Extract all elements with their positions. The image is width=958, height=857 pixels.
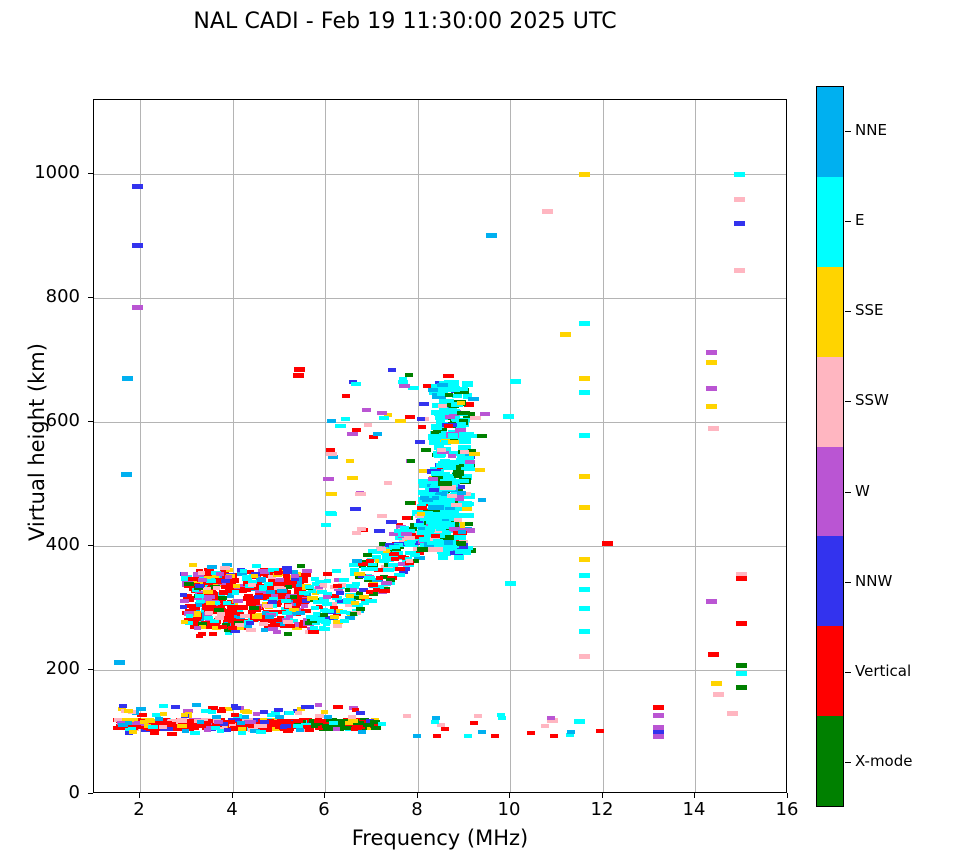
data-point	[208, 710, 216, 714]
data-point	[159, 725, 167, 729]
data-point	[418, 425, 426, 429]
data-point	[736, 685, 747, 690]
y-tick-mark	[88, 545, 93, 546]
data-point	[204, 616, 213, 620]
data-point	[389, 545, 400, 549]
colorbar-label-x-mode: X-mode	[855, 752, 912, 770]
data-point	[579, 433, 590, 438]
data-point	[321, 523, 331, 527]
colorbar[interactable]	[816, 86, 844, 807]
data-point	[237, 605, 248, 610]
data-point	[363, 723, 374, 727]
data-point	[336, 591, 344, 595]
data-point	[713, 692, 724, 697]
data-point	[244, 720, 256, 724]
data-point	[417, 512, 425, 516]
data-point	[221, 579, 230, 583]
data-point	[282, 611, 292, 615]
data-point	[420, 496, 429, 500]
data-point	[388, 563, 398, 567]
x-axis-label: Frequency (MHz)	[93, 826, 787, 850]
data-point	[192, 703, 201, 707]
data-point	[373, 432, 382, 436]
data-point	[454, 474, 462, 478]
data-point	[198, 578, 207, 582]
data-point	[181, 572, 188, 576]
data-point	[441, 727, 449, 731]
data-point	[402, 516, 411, 520]
data-point	[218, 596, 227, 600]
data-point	[167, 732, 177, 736]
data-point	[736, 671, 747, 676]
data-point	[301, 604, 308, 608]
data-point	[326, 512, 337, 516]
data-point	[391, 557, 399, 561]
x-tick-label: 16	[757, 799, 817, 820]
data-point	[383, 568, 394, 572]
data-point	[190, 731, 200, 735]
data-point	[291, 574, 299, 578]
colorbar-tick-mark	[845, 131, 851, 132]
data-point	[333, 727, 340, 731]
data-point	[155, 717, 163, 721]
data-point	[602, 541, 613, 546]
colorbar-label-w: W	[855, 482, 870, 500]
data-point	[277, 589, 287, 593]
data-point	[287, 624, 295, 628]
data-point	[505, 581, 516, 586]
x-tick-mark	[602, 793, 603, 798]
data-point	[293, 724, 303, 728]
data-point	[322, 602, 332, 606]
data-point	[579, 376, 590, 381]
data-point	[285, 604, 292, 608]
data-point	[445, 393, 453, 397]
data-point	[129, 730, 137, 734]
data-point	[706, 350, 717, 355]
data-point	[465, 460, 475, 464]
data-point	[381, 589, 389, 593]
data-point	[216, 572, 224, 576]
y-tick-label: 1000	[20, 162, 80, 183]
data-point	[527, 731, 535, 735]
data-point	[233, 599, 243, 603]
data-point	[340, 619, 349, 623]
data-point	[653, 734, 664, 739]
data-point	[223, 601, 231, 605]
data-point	[407, 459, 415, 463]
data-point	[252, 564, 261, 568]
data-point	[400, 526, 409, 530]
data-point	[350, 507, 361, 511]
data-point	[125, 721, 132, 725]
data-point	[466, 434, 477, 438]
data-point	[414, 523, 424, 527]
data-point	[399, 384, 410, 388]
data-point	[388, 368, 396, 372]
data-point	[320, 613, 328, 617]
data-point	[294, 719, 303, 723]
data-point	[736, 576, 747, 581]
data-point	[356, 711, 365, 715]
data-point	[180, 599, 189, 603]
data-point	[445, 415, 455, 419]
ionogram-figure: NAL CADI - Feb 19 11:30:00 2025 UTC Freq…	[0, 0, 958, 857]
data-point	[374, 529, 385, 533]
colorbar-segment-nne[interactable]	[817, 87, 843, 177]
data-point	[281, 724, 291, 728]
data-point	[320, 583, 327, 587]
data-point	[311, 606, 319, 610]
data-point	[464, 734, 472, 738]
data-point	[253, 600, 260, 605]
x-tick-label: 4	[202, 799, 262, 820]
data-point	[290, 595, 297, 599]
data-point	[232, 590, 239, 595]
colorbar-label-ssw: SSW	[855, 391, 889, 409]
data-point	[283, 574, 290, 580]
data-point	[228, 626, 237, 630]
data-point	[246, 628, 256, 632]
data-point	[274, 708, 283, 712]
data-point	[458, 530, 466, 534]
data-point	[727, 711, 738, 716]
data-point	[294, 367, 305, 372]
data-point	[296, 611, 305, 615]
data-point	[297, 564, 305, 568]
data-point	[379, 416, 389, 420]
data-point	[194, 626, 201, 630]
data-point	[352, 559, 362, 563]
data-point	[596, 729, 604, 733]
data-point	[254, 595, 263, 599]
data-point	[136, 707, 146, 711]
data-point	[124, 709, 133, 713]
data-point	[464, 464, 474, 468]
data-point	[372, 555, 381, 559]
data-point	[150, 731, 159, 735]
data-point	[437, 383, 448, 387]
data-point	[448, 433, 458, 438]
data-point	[295, 711, 302, 715]
data-point	[185, 604, 196, 608]
data-point	[224, 728, 231, 732]
colorbar-segment-nnw[interactable]	[817, 536, 843, 626]
data-point	[708, 652, 719, 657]
data-point	[491, 734, 499, 738]
plot-area	[93, 99, 787, 793]
data-point	[395, 419, 406, 423]
data-point	[443, 374, 454, 378]
x-tick-mark	[509, 793, 510, 798]
data-point	[352, 531, 361, 535]
data-point	[440, 510, 457, 515]
data-point	[249, 606, 259, 610]
data-point	[438, 481, 452, 486]
data-point	[428, 477, 438, 481]
data-point	[312, 582, 319, 586]
colorbar-tick-mark	[845, 401, 851, 402]
data-point	[350, 612, 357, 616]
data-point	[560, 332, 571, 337]
data-point	[366, 590, 373, 594]
data-point	[706, 404, 717, 409]
x-tick-label: 2	[109, 799, 169, 820]
data-point	[458, 438, 471, 444]
data-point	[415, 440, 425, 444]
data-point	[197, 720, 204, 724]
data-point	[579, 505, 590, 510]
data-point	[474, 714, 482, 718]
data-point	[470, 721, 478, 725]
scatter-points	[94, 100, 786, 792]
data-point	[293, 599, 300, 603]
data-point	[323, 572, 332, 576]
data-point	[307, 596, 318, 600]
data-point	[218, 625, 227, 629]
data-point	[339, 578, 349, 582]
data-point	[186, 614, 193, 618]
data-point	[428, 505, 444, 510]
data-point	[235, 623, 244, 627]
colorbar-segment-x-mode[interactable]	[817, 716, 843, 806]
data-point	[281, 599, 291, 603]
data-point	[310, 617, 321, 621]
data-point	[217, 709, 226, 713]
data-point	[421, 448, 431, 452]
data-point	[119, 704, 127, 708]
data-point	[734, 268, 745, 273]
data-point	[708, 426, 719, 431]
data-point	[271, 722, 280, 726]
data-point	[377, 411, 387, 415]
data-point	[207, 565, 217, 569]
data-point	[341, 417, 350, 421]
colorbar-segment-e[interactable]	[817, 177, 843, 267]
data-point	[238, 731, 246, 735]
data-point	[220, 566, 230, 570]
data-point	[579, 474, 590, 479]
data-point	[736, 663, 747, 668]
data-point	[321, 710, 328, 714]
data-point	[314, 719, 326, 723]
data-point	[333, 705, 343, 709]
data-point	[376, 576, 383, 580]
data-point	[362, 408, 371, 412]
data-point	[132, 184, 143, 189]
data-point	[301, 705, 310, 709]
y-tick-label: 0	[20, 782, 80, 803]
colorbar-segment-ssw[interactable]	[817, 357, 843, 447]
data-point	[209, 632, 217, 636]
data-point	[403, 714, 411, 718]
data-point	[323, 477, 334, 481]
data-point	[335, 424, 346, 428]
data-point	[706, 599, 717, 604]
data-point	[253, 712, 260, 716]
data-point	[368, 583, 378, 587]
data-point	[395, 567, 405, 571]
data-point	[189, 563, 197, 567]
data-point	[503, 414, 514, 419]
data-point	[579, 629, 590, 634]
data-point	[206, 579, 216, 583]
data-point	[486, 233, 497, 238]
data-point	[219, 590, 228, 595]
data-point	[373, 588, 380, 592]
data-point	[351, 382, 361, 386]
data-point	[405, 415, 415, 419]
data-point	[310, 626, 318, 630]
data-point	[653, 713, 664, 718]
data-point	[430, 500, 446, 505]
data-point	[363, 553, 372, 557]
data-point	[177, 718, 187, 722]
data-point	[315, 703, 322, 707]
data-point	[405, 501, 415, 505]
data-point	[458, 479, 469, 483]
colorbar-label-nnw: NNW	[855, 572, 892, 590]
data-point	[413, 734, 421, 738]
data-point	[177, 724, 187, 728]
data-point	[243, 596, 251, 601]
data-point	[352, 582, 360, 586]
x-tick-mark	[139, 793, 140, 798]
data-point	[132, 243, 143, 248]
data-point	[432, 716, 440, 720]
y-tick-mark	[88, 421, 93, 422]
x-tick-mark	[787, 793, 788, 798]
data-point	[196, 634, 203, 638]
data-point	[324, 579, 331, 583]
data-point	[368, 549, 377, 553]
data-point	[547, 716, 555, 720]
data-point	[121, 472, 132, 477]
colorbar-tick-mark	[845, 582, 851, 583]
data-point	[332, 569, 341, 573]
data-point	[214, 720, 223, 724]
data-point	[478, 730, 486, 734]
data-point	[345, 721, 353, 725]
data-point	[340, 610, 347, 614]
data-point	[257, 724, 267, 728]
data-point	[333, 584, 342, 588]
data-point	[231, 713, 239, 717]
data-point	[342, 394, 350, 398]
data-point	[237, 721, 245, 725]
y-tick-label: 600	[20, 410, 80, 431]
data-point	[428, 547, 443, 552]
data-point	[438, 404, 447, 408]
data-point	[377, 514, 387, 518]
colorbar-segment-vertical[interactable]	[817, 626, 843, 716]
data-point	[181, 713, 188, 717]
data-point	[260, 710, 268, 714]
data-point	[579, 654, 590, 659]
y-tick-label: 400	[20, 534, 80, 555]
data-point	[195, 594, 204, 598]
data-point	[447, 462, 456, 466]
data-point	[448, 440, 459, 444]
x-tick-label: 10	[479, 799, 539, 820]
data-point	[329, 721, 338, 725]
data-point	[361, 567, 368, 571]
data-point	[326, 492, 337, 496]
data-point	[323, 595, 331, 599]
colorbar-label-vertical: Vertical	[855, 662, 911, 680]
x-tick-label: 14	[664, 799, 724, 820]
data-point	[441, 545, 457, 550]
data-point	[734, 197, 745, 202]
data-point	[242, 710, 252, 714]
data-point	[148, 725, 158, 729]
data-point	[579, 557, 590, 562]
data-point	[213, 586, 220, 590]
data-point	[368, 567, 378, 571]
colorbar-segment-sse[interactable]	[817, 267, 843, 357]
data-point	[275, 715, 284, 719]
data-point	[433, 734, 441, 738]
colorbar-label-e: E	[855, 211, 864, 229]
data-point	[311, 577, 319, 581]
data-point	[541, 724, 549, 728]
colorbar-tick-mark	[845, 311, 851, 312]
data-point	[574, 719, 585, 724]
data-point	[364, 576, 375, 580]
data-point	[457, 411, 470, 415]
data-point	[195, 584, 204, 588]
data-point	[319, 626, 326, 630]
data-point	[248, 583, 256, 587]
data-point	[266, 590, 275, 594]
data-point	[205, 611, 213, 615]
data-point	[465, 522, 473, 526]
x-tick-mark	[694, 793, 695, 798]
y-tick-label: 200	[20, 658, 80, 679]
data-point	[475, 468, 485, 472]
data-point	[381, 581, 392, 585]
data-point	[358, 730, 366, 734]
data-point	[447, 494, 457, 498]
data-point	[734, 172, 745, 177]
colorbar-segment-w[interactable]	[817, 447, 843, 537]
data-point	[215, 616, 224, 620]
data-point	[431, 720, 439, 724]
data-point	[419, 402, 429, 406]
data-point	[378, 722, 386, 726]
data-point	[302, 569, 312, 573]
data-point	[366, 559, 374, 563]
colorbar-label-sse: SSE	[855, 301, 884, 319]
data-point	[711, 681, 722, 686]
data-point	[457, 401, 465, 405]
data-point	[579, 172, 590, 177]
data-point	[579, 390, 590, 395]
data-point	[240, 588, 251, 592]
data-point	[327, 419, 336, 423]
colorbar-tick-mark	[845, 672, 851, 673]
data-point	[386, 520, 397, 524]
data-point	[478, 498, 486, 502]
data-point	[132, 305, 143, 310]
data-point	[438, 388, 453, 392]
data-point	[347, 476, 358, 480]
data-point	[448, 454, 456, 458]
data-point	[203, 590, 213, 594]
data-point	[470, 416, 481, 420]
data-point	[434, 454, 445, 458]
data-point	[285, 711, 294, 715]
